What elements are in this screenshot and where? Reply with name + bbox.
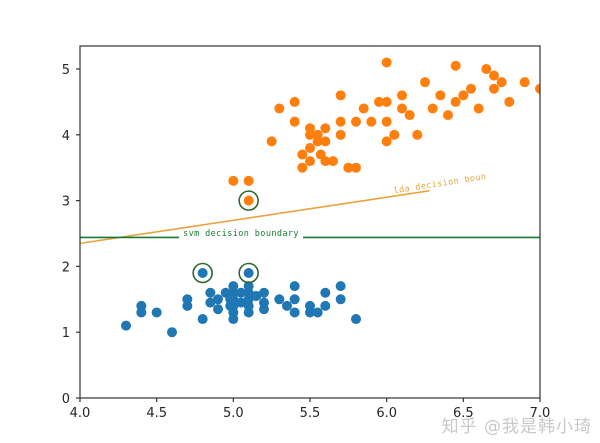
data-point <box>182 294 192 304</box>
data-point <box>290 294 300 304</box>
data-point <box>382 57 392 67</box>
data-point <box>397 90 407 100</box>
data-point <box>167 327 177 337</box>
y-tick-label: 4 <box>62 129 70 144</box>
y-axis: 012345 <box>62 63 80 407</box>
matplotlib-figure: svm decision boundarylda decision boun4.… <box>0 0 600 443</box>
data-point <box>458 90 468 100</box>
data-point <box>489 84 499 94</box>
data-point <box>504 97 514 107</box>
data-point <box>320 288 330 298</box>
data-point <box>420 77 430 87</box>
data-point <box>228 314 238 324</box>
data-point <box>198 314 208 324</box>
data-point <box>481 64 491 74</box>
data-point <box>451 61 461 71</box>
data-point <box>259 288 269 298</box>
y-tick-label: 1 <box>62 326 70 341</box>
y-tick-label: 2 <box>62 260 70 275</box>
data-point <box>497 77 507 87</box>
x-tick-label: 5.0 <box>223 406 244 421</box>
data-point <box>244 307 254 317</box>
data-point <box>405 110 415 120</box>
data-point <box>213 304 223 314</box>
data-point <box>320 123 330 133</box>
data-point <box>305 156 315 166</box>
data-point <box>259 304 269 314</box>
x-tick-label: 4.5 <box>146 406 167 421</box>
data-point <box>435 90 445 100</box>
x-tick-label: 6.0 <box>376 406 397 421</box>
data-point <box>328 156 338 166</box>
data-point <box>205 288 215 298</box>
data-point <box>297 163 307 173</box>
lda-decision-boundary-label: lda decision boun <box>393 172 487 197</box>
data-point <box>244 176 254 186</box>
data-point <box>451 97 461 107</box>
data-point <box>274 104 284 114</box>
data-point <box>443 110 453 120</box>
data-point <box>136 301 146 311</box>
data-point <box>152 307 162 317</box>
data-point <box>320 136 330 146</box>
data-point <box>428 104 438 114</box>
data-point <box>382 117 392 127</box>
data-point <box>489 71 499 81</box>
data-point <box>290 307 300 317</box>
scatter-plot: svm decision boundarylda decision boun4.… <box>0 0 600 443</box>
data-point <box>382 97 392 107</box>
data-point <box>389 130 399 140</box>
data-point <box>366 117 376 127</box>
data-point <box>351 117 361 127</box>
data-point <box>412 130 422 140</box>
data-point <box>274 294 284 304</box>
data-point <box>305 143 315 153</box>
data-point <box>267 136 277 146</box>
data-point <box>336 90 346 100</box>
data-point <box>228 176 238 186</box>
data-point <box>336 281 346 291</box>
data-point <box>320 301 330 311</box>
data-point <box>244 196 254 206</box>
data-point <box>290 117 300 127</box>
data-point <box>382 136 392 146</box>
y-tick-label: 5 <box>62 63 70 78</box>
data-point <box>466 84 476 94</box>
data-point <box>213 294 223 304</box>
data-point <box>290 281 300 291</box>
data-point <box>336 117 346 127</box>
data-point <box>397 104 407 114</box>
data-point <box>282 301 292 311</box>
watermark: 知乎 @我是韩小琦 <box>442 412 592 437</box>
data-point <box>198 268 208 278</box>
x-tick-label: 5.5 <box>300 406 321 421</box>
y-tick-label: 3 <box>62 195 70 210</box>
svm-decision-boundary-label: svm decision boundary <box>183 229 299 239</box>
data-point <box>244 268 254 278</box>
axes-frame <box>80 46 540 398</box>
data-point <box>290 97 300 107</box>
data-point <box>121 321 131 331</box>
data-point <box>359 104 369 114</box>
data-point <box>474 104 484 114</box>
data-point <box>297 150 307 160</box>
data-point <box>351 163 361 173</box>
scatter-series-1 <box>228 57 545 205</box>
x-tick-label: 4.0 <box>70 406 91 421</box>
data-point <box>336 130 346 140</box>
data-point <box>336 294 346 304</box>
data-point <box>313 307 323 317</box>
data-point <box>351 314 361 324</box>
data-point <box>520 77 530 87</box>
y-tick-label: 0 <box>62 392 70 407</box>
